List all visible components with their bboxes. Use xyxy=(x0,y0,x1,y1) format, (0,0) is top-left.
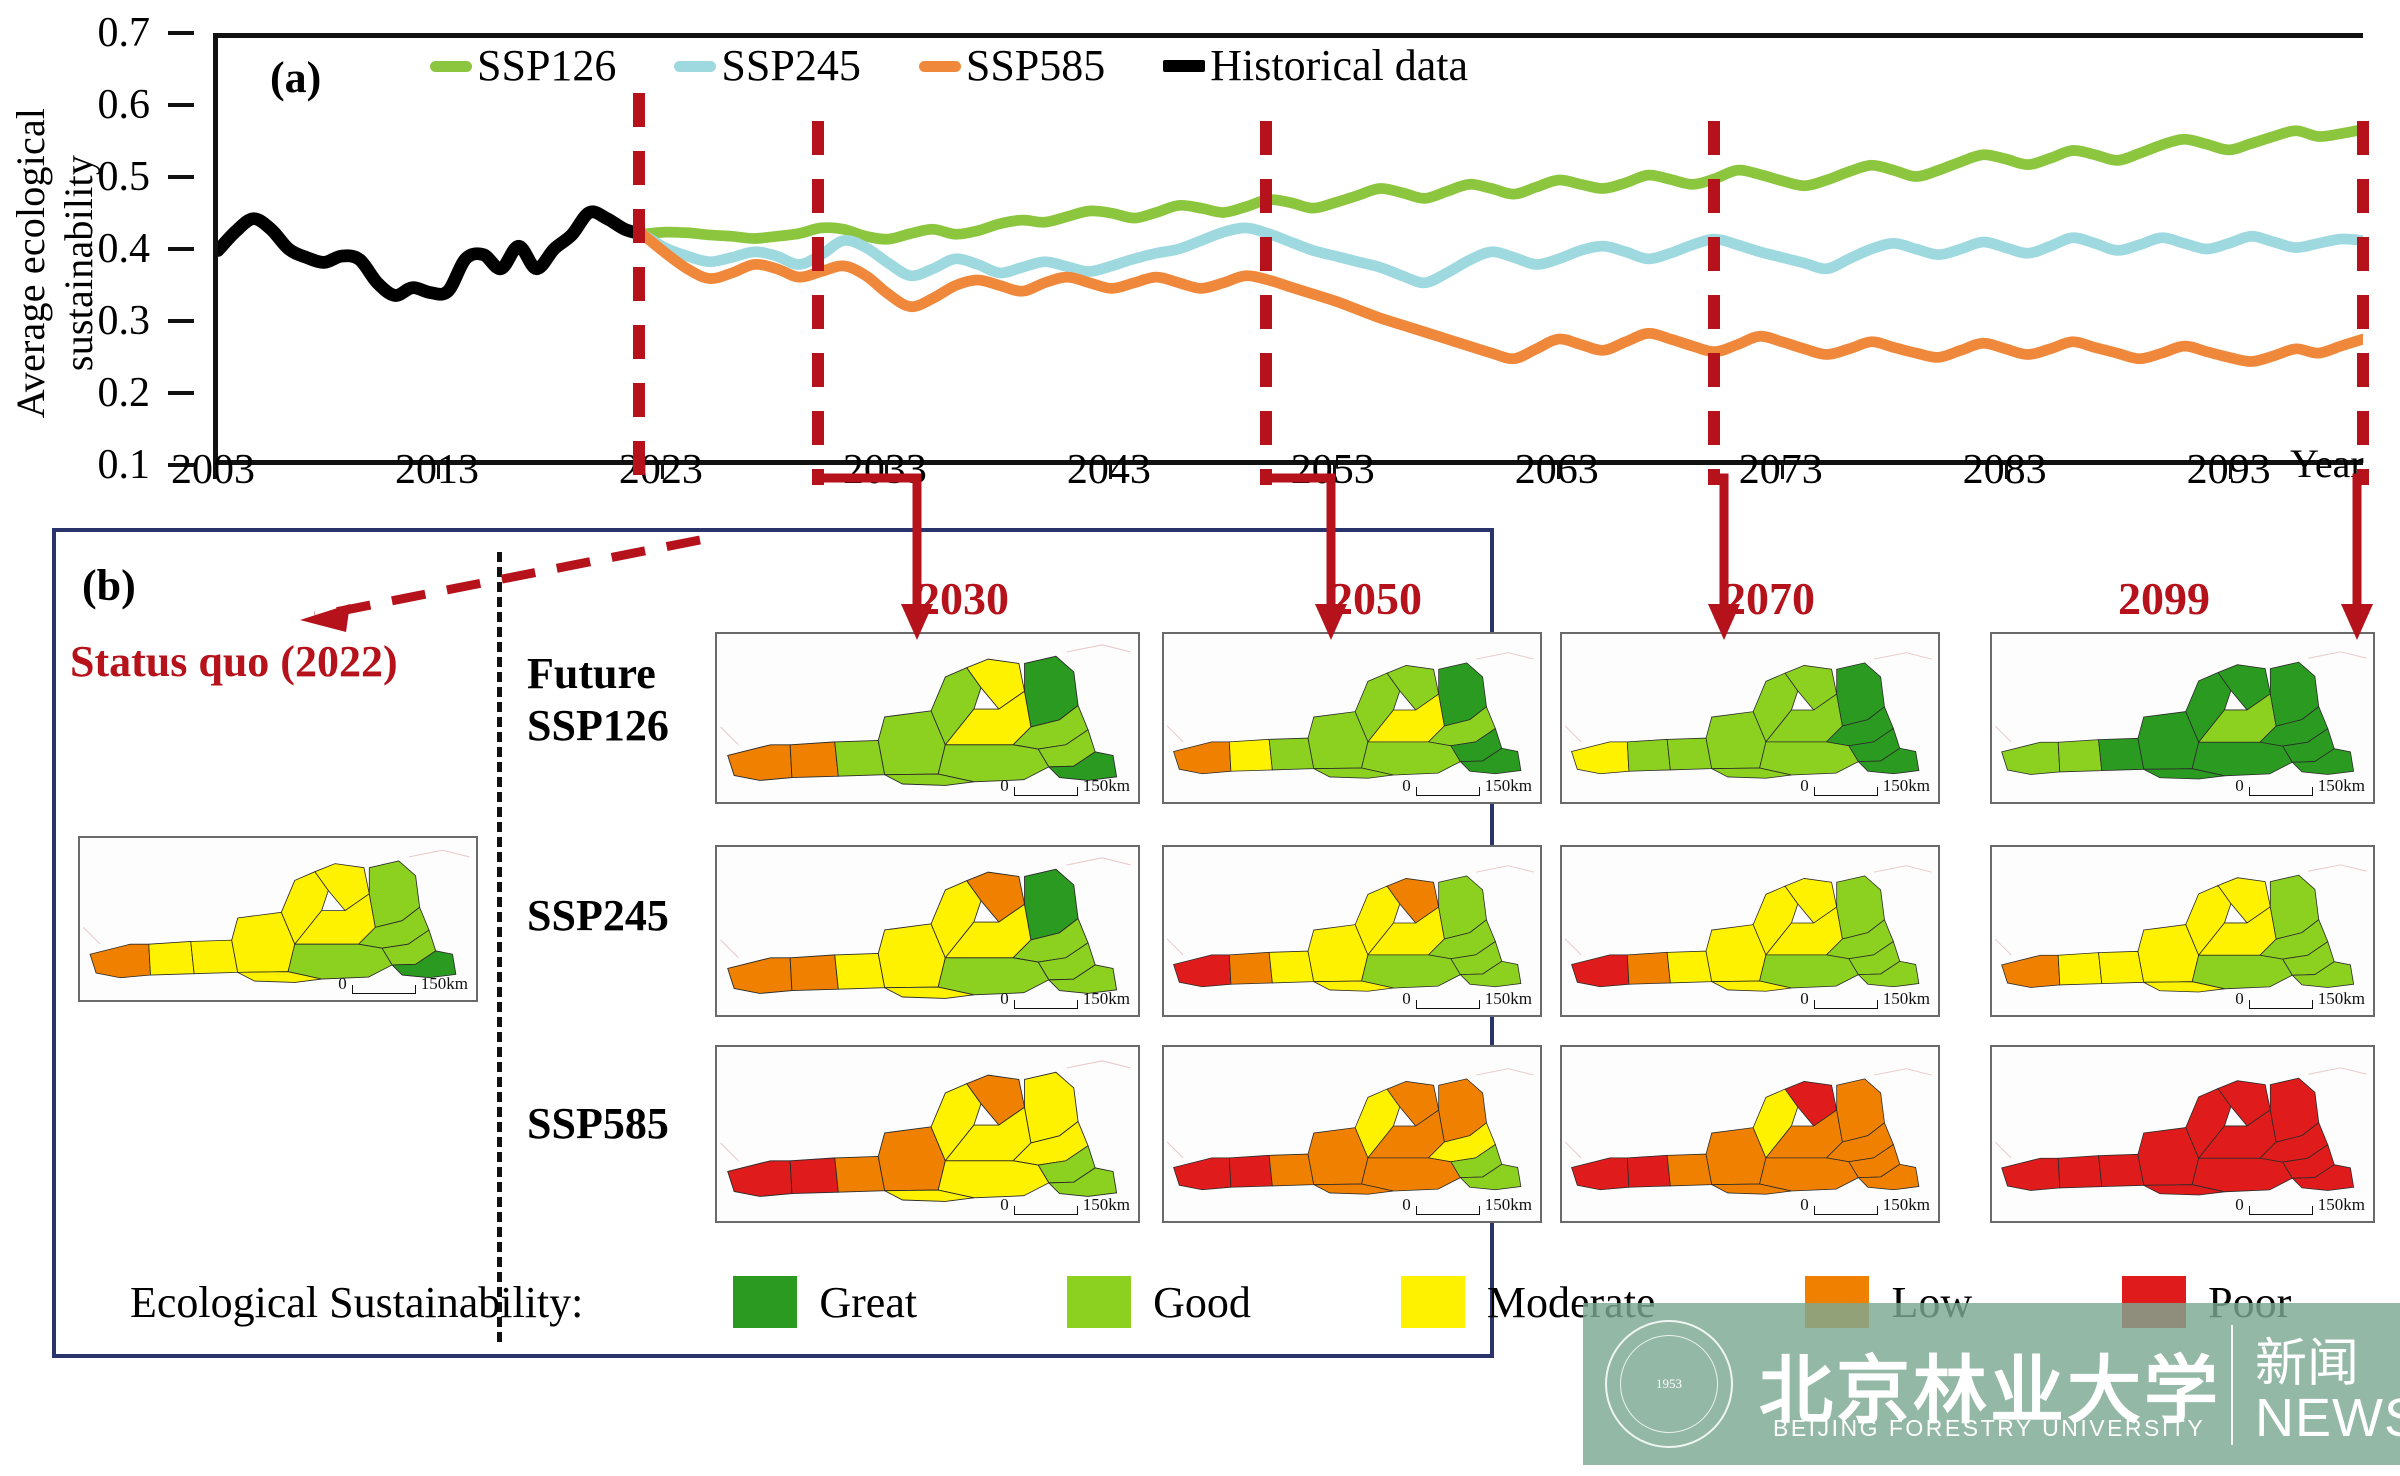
scalebar-distance: 150km xyxy=(1883,1195,1930,1215)
scalebar-distance: 150km xyxy=(1485,989,1532,1009)
map-region xyxy=(1362,955,1461,988)
y-tick-0.4: 0.4 xyxy=(30,225,150,273)
map-ssp585-2030: 0150km xyxy=(715,1045,1140,1223)
map-scalebar: 0150km xyxy=(2235,776,2365,796)
legend-label: SSP126 xyxy=(477,44,616,88)
map-ssp585-2070: 0150km xyxy=(1560,1045,1940,1223)
map-region xyxy=(2192,742,2292,776)
scalebar-zero: 0 xyxy=(1800,989,1809,1009)
scalebar-zero: 0 xyxy=(2235,1195,2244,1215)
column-year-2030: 2030 xyxy=(917,572,1009,625)
y-tickmark xyxy=(168,319,194,323)
legend-item-ssp245: SSP245 xyxy=(674,44,860,88)
map-scalebar: 0150km xyxy=(1402,1195,1532,1215)
column-year-2050: 2050 xyxy=(1330,572,1422,625)
legend-color-swatch xyxy=(1401,1276,1465,1328)
map-region xyxy=(2192,1158,2292,1192)
map-region xyxy=(1229,952,1272,984)
map-region xyxy=(1174,742,1231,774)
row-label-line: SSP245 xyxy=(527,890,669,942)
map-ssp245-2050: 0150km xyxy=(1162,845,1542,1017)
scalebar-zero: 0 xyxy=(1000,776,1009,796)
x-tickmark xyxy=(213,465,216,479)
legend-color-swatch xyxy=(733,1276,797,1328)
legend-swatch-icon xyxy=(430,61,472,72)
scalebar-bar xyxy=(1814,787,1878,796)
y-tickmark xyxy=(168,391,194,395)
map-region xyxy=(835,953,885,989)
map-scalebar: 0150km xyxy=(1800,989,1930,1009)
scalebar-bar xyxy=(2249,1206,2313,1215)
scalebar-bar xyxy=(1014,787,1078,796)
map-region xyxy=(2099,1154,2144,1186)
scalebar-zero: 0 xyxy=(338,974,347,994)
legend-swatch-icon xyxy=(919,61,961,72)
map-region xyxy=(835,1156,885,1192)
map-scalebar: 0150km xyxy=(2235,989,2365,1009)
series-line-ssp126 xyxy=(643,129,2363,239)
map-region xyxy=(1174,1158,1231,1190)
map-region xyxy=(1760,955,1859,988)
column-year-2099: 2099 xyxy=(2118,572,2210,625)
x-tickmark xyxy=(1781,465,1784,479)
panel-b-divider xyxy=(497,552,502,1342)
legend-class-great: Great xyxy=(733,1276,917,1328)
legend-class-good: Good xyxy=(1067,1276,1251,1328)
legend-color-swatch xyxy=(1067,1276,1131,1328)
scalebar-zero: 0 xyxy=(1402,1195,1411,1215)
y-tick-0.3: 0.3 xyxy=(30,297,150,345)
map-ssp126-2070: 0150km xyxy=(1560,632,1940,804)
row-label-line: SSP126 xyxy=(527,700,669,752)
marker-line-2070 xyxy=(1708,121,1720,485)
legend-class-label: Great xyxy=(819,1277,917,1328)
scalebar-distance: 150km xyxy=(2318,1195,2365,1215)
y-tick-0.2: 0.2 xyxy=(30,369,150,417)
y-tickmark xyxy=(168,247,194,251)
legend-label: Historical data xyxy=(1210,44,1468,88)
scalebar-bar xyxy=(1014,1206,1078,1215)
map-region xyxy=(835,740,885,776)
map-region xyxy=(2099,951,2144,983)
map-region xyxy=(2099,738,2144,770)
legend-label: SSP585 xyxy=(966,44,1105,88)
marker-line-2030 xyxy=(812,121,824,485)
map-scalebar: 0150km xyxy=(338,974,468,994)
scalebar-zero: 0 xyxy=(2235,989,2244,1009)
map-region xyxy=(790,955,838,991)
column-year-2070: 2070 xyxy=(1723,572,1815,625)
x-tickmark xyxy=(1333,465,1336,479)
map-scalebar: 0150km xyxy=(1000,1195,1130,1215)
map-region xyxy=(1269,951,1314,983)
scalebar-distance: 150km xyxy=(1083,1195,1130,1215)
map-region xyxy=(728,958,792,994)
panel-a-tag: (a) xyxy=(270,52,321,103)
map-ssp126-2099: 0150km xyxy=(1990,632,2375,804)
map-region xyxy=(1572,955,1629,987)
scalebar-bar xyxy=(352,985,416,994)
map-region xyxy=(1627,952,1670,984)
map-region xyxy=(1174,955,1231,987)
map-scalebar: 0150km xyxy=(1000,989,1130,1009)
scalebar-bar xyxy=(1416,1000,1480,1009)
y-tick-0.6: 0.6 xyxy=(30,81,150,129)
map-region xyxy=(1269,1154,1314,1186)
map-region xyxy=(1269,738,1314,770)
legend-title: Ecological Sustainability: xyxy=(130,1277,583,1328)
map-scalebar: 0150km xyxy=(1000,776,1130,796)
plot-frame xyxy=(213,33,2363,465)
x-tickmark xyxy=(437,465,440,479)
map-region xyxy=(2058,1156,2102,1188)
map-region xyxy=(728,1161,792,1197)
scalebar-distance: 150km xyxy=(1083,989,1130,1009)
legend-swatch-icon xyxy=(674,61,716,72)
row-label-ssp585: SSP585 xyxy=(527,1098,669,1150)
legend-label: SSP245 xyxy=(721,44,860,88)
marker-line-2022 xyxy=(633,93,645,485)
scalebar-distance: 150km xyxy=(1883,989,1930,1009)
map-region xyxy=(1572,742,1629,774)
scalebar-bar xyxy=(1814,1206,1878,1215)
legend-item-historical-data: Historical data xyxy=(1163,44,1468,88)
scalebar-zero: 0 xyxy=(1800,776,1809,796)
map-region xyxy=(728,745,792,781)
map-region xyxy=(1362,1158,1461,1191)
plot-lines xyxy=(218,38,2363,460)
map-region xyxy=(1667,951,1712,983)
scalebar-distance: 150km xyxy=(1883,776,1930,796)
map-region xyxy=(2192,955,2292,989)
map-scalebar: 0150km xyxy=(1800,776,1930,796)
map-region xyxy=(2058,953,2102,985)
x-tickmark xyxy=(2005,465,2008,479)
map-ssp126-2050: 0150km xyxy=(1162,632,1542,804)
legend-item-ssp585: SSP585 xyxy=(919,44,1105,88)
y-tick-0.7: 0.7 xyxy=(30,9,150,57)
x-tickmark xyxy=(1557,465,1560,479)
row-label-line: Future xyxy=(527,648,669,700)
row-label-ssp245: SSP245 xyxy=(527,890,669,942)
seal-year: 1953 xyxy=(1620,1335,1718,1433)
scalebar-distance: 150km xyxy=(2318,989,2365,1009)
scalebar-zero: 0 xyxy=(1800,1195,1809,1215)
marker-line-2099 xyxy=(2357,121,2369,485)
map-status-quo-2022: 0150km xyxy=(78,836,478,1002)
scalebar-zero: 0 xyxy=(1000,1195,1009,1215)
legend-item-ssp126: SSP126 xyxy=(430,44,616,88)
row-label-ssp126: FutureSSP126 xyxy=(527,648,669,752)
legend-swatch-icon xyxy=(1163,60,1205,72)
watermark-name-en: BEIJING FORESTRY UNIVERSITY xyxy=(1773,1415,2205,1442)
scalebar-distance: 150km xyxy=(2318,776,2365,796)
scalebar-bar xyxy=(1416,1206,1480,1215)
status-quo-label: Status quo (2022) xyxy=(70,636,398,687)
watermark-beijing-forestry-university: 1953 北京林业大学 BEIJING FORESTRY UNIVERSITY … xyxy=(1583,1303,2400,1465)
map-ssp585-2050: 0150km xyxy=(1162,1045,1542,1223)
watermark-news-en: NEWS xyxy=(2255,1387,2400,1449)
scalebar-distance: 150km xyxy=(1485,1195,1532,1215)
map-region xyxy=(1667,738,1712,770)
scalebar-bar xyxy=(1814,1000,1878,1009)
map-region xyxy=(2002,742,2060,774)
chart-legend: SSP126SSP245SSP585Historical data xyxy=(430,44,1526,88)
y-tickmark xyxy=(168,31,194,35)
map-region xyxy=(1627,1155,1670,1187)
scalebar-bar xyxy=(2249,787,2313,796)
map-ssp245-2030: 0150km xyxy=(715,845,1140,1017)
map-ssp245-2099: 0150km xyxy=(1990,845,2375,1017)
scalebar-distance: 150km xyxy=(1083,776,1130,796)
scalebar-zero: 0 xyxy=(1402,989,1411,1009)
scalebar-distance: 150km xyxy=(1485,776,1532,796)
map-region xyxy=(790,1158,838,1194)
series-line-historical-data xyxy=(218,212,643,296)
scalebar-bar xyxy=(1416,787,1480,796)
y-tickmark xyxy=(168,175,194,179)
map-region xyxy=(2002,955,2060,987)
y-tickmark xyxy=(168,103,194,107)
map-region xyxy=(191,940,238,974)
map-region xyxy=(90,944,150,978)
map-region xyxy=(1760,742,1859,775)
x-tickmark xyxy=(2229,465,2232,479)
scalebar-distance: 150km xyxy=(421,974,468,994)
scalebar-zero: 0 xyxy=(2235,776,2244,796)
panel-a-timeseries-chart: Average ecological sustainability 0.70.6… xyxy=(0,0,2400,520)
watermark-news-cn: 新闻 xyxy=(2255,1321,2359,1396)
map-scalebar: 0150km xyxy=(2235,1195,2365,1215)
map-ssp126-2030: 0150km xyxy=(715,632,1140,804)
map-ssp245-2070: 0150km xyxy=(1560,845,1940,1017)
x-tickmark xyxy=(1109,465,1112,479)
y-tick-0.1: 0.1 xyxy=(30,441,150,489)
map-scalebar: 0150km xyxy=(1800,1195,1930,1215)
scalebar-bar xyxy=(2249,1000,2313,1009)
map-region xyxy=(1229,739,1272,771)
map-scalebar: 0150km xyxy=(1402,989,1532,1009)
map-region xyxy=(1627,739,1670,771)
map-region xyxy=(938,1161,1049,1198)
map-region xyxy=(1760,1158,1859,1191)
map-ssp585-2099: 0150km xyxy=(1990,1045,2375,1223)
scalebar-zero: 0 xyxy=(1000,989,1009,1009)
marker-line-2050 xyxy=(1260,121,1272,485)
map-region xyxy=(1362,742,1461,775)
university-seal-icon: 1953 xyxy=(1605,1320,1733,1448)
x-tickmark xyxy=(885,465,888,479)
map-region xyxy=(1667,1154,1712,1186)
x-axis-label: Year xyxy=(2290,440,2364,487)
y-axis-ticks: 0.70.60.50.40.30.20.1 xyxy=(20,0,150,470)
map-region xyxy=(1572,1158,1629,1190)
map-region xyxy=(790,742,838,778)
legend-class-label: Good xyxy=(1153,1277,1251,1328)
panel-b-tag: (b) xyxy=(82,560,136,611)
watermark-divider xyxy=(2231,1325,2233,1445)
scalebar-bar xyxy=(1014,1000,1078,1009)
scalebar-zero: 0 xyxy=(1402,776,1411,796)
map-scalebar: 0150km xyxy=(1402,776,1532,796)
row-label-line: SSP585 xyxy=(527,1098,669,1150)
map-region xyxy=(1229,1155,1272,1187)
y-tick-0.5: 0.5 xyxy=(30,153,150,201)
x-tickmark xyxy=(661,465,664,479)
map-region xyxy=(2058,740,2102,772)
map-region xyxy=(149,941,194,975)
map-region xyxy=(2002,1158,2060,1190)
